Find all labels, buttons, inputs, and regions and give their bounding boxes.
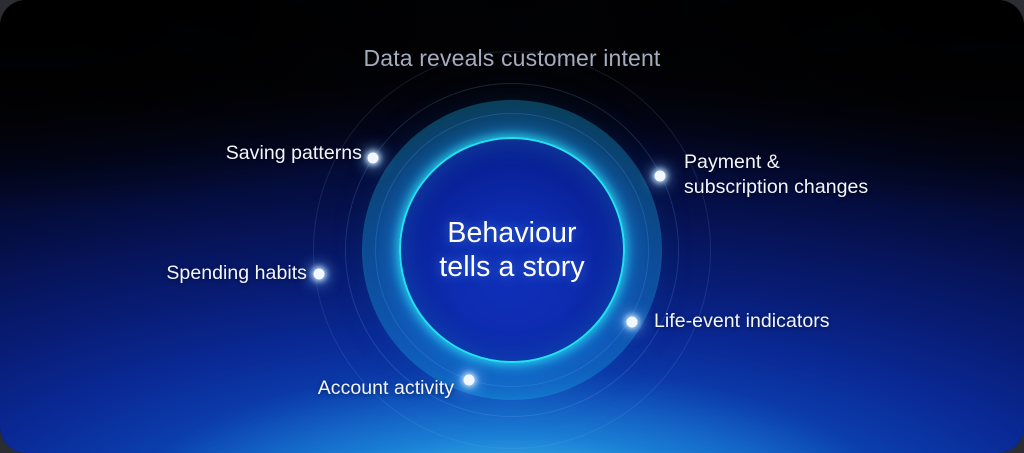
- node-label-spending-habits[interactable]: Spending habits: [166, 261, 307, 286]
- core-circle: Behaviour tells a story: [399, 137, 625, 363]
- core-circle-label: Behaviour tells a story: [439, 216, 584, 285]
- node-label-life-event-indicators[interactable]: Life-event indicators: [654, 309, 830, 334]
- page-title: Data reveals customer intent: [0, 45, 1024, 72]
- node-dot-life-event-indicators[interactable]: [627, 317, 638, 328]
- node-dot-saving-patterns[interactable]: [368, 153, 379, 164]
- node-label-saving-patterns[interactable]: Saving patterns: [226, 141, 362, 166]
- node-label-payment-subscription[interactable]: Payment & subscription changes: [684, 150, 868, 199]
- node-dot-account-activity[interactable]: [464, 375, 475, 386]
- node-dot-payment-subscription[interactable]: [655, 171, 666, 182]
- node-label-account-activity[interactable]: Account activity: [318, 376, 454, 401]
- infographic-card: Data reveals customer intent Behaviour t…: [0, 0, 1024, 453]
- node-dot-spending-habits[interactable]: [314, 269, 325, 280]
